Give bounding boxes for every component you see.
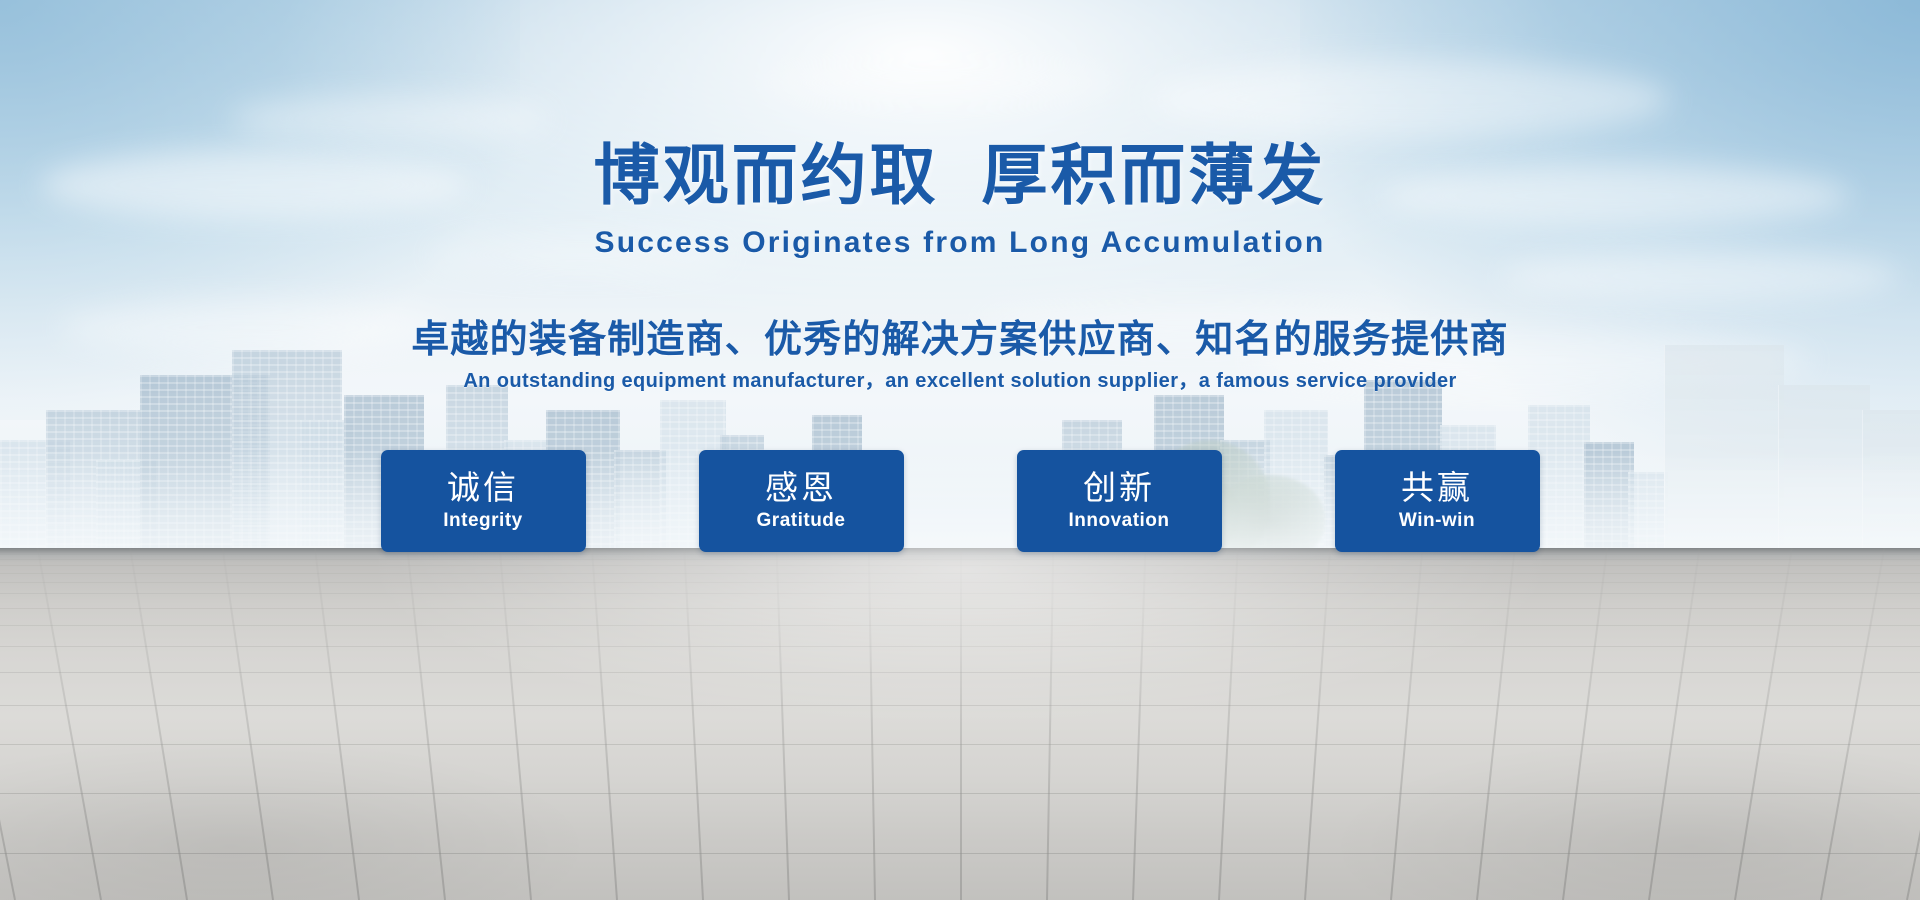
core-values-list: 诚信 Integrity 感恩 Gratitude 创新 Innovation … [0, 450, 1920, 552]
value-card-winwin[interactable]: 共赢 Win-win [1335, 450, 1540, 552]
value-card-label-cn: 感恩 [765, 470, 837, 507]
value-card-integrity[interactable]: 诚信 Integrity [381, 450, 586, 552]
banner-content: 博观而约取 厚积而薄发 Success Originates from Long… [0, 0, 1920, 900]
subtitle-english: An outstanding equipment manufacturer，an… [0, 364, 1920, 393]
headline-english: Success Originates from Long Accumulatio… [0, 226, 1920, 260]
value-card-innovation[interactable]: 创新 Innovation [1017, 450, 1222, 552]
value-card-label-en: Gratitude [757, 509, 846, 533]
value-card-label-cn: 创新 [1083, 470, 1155, 507]
subtitle-chinese: 卓越的装备制造商、优秀的解决方案供应商、知名的服务提供商 [0, 308, 1920, 363]
value-card-label-cn: 共赢 [1401, 470, 1473, 507]
value-card-label-en: Innovation [1068, 509, 1169, 533]
value-card-label-en: Win-win [1399, 509, 1475, 533]
value-card-label-cn: 诚信 [447, 470, 519, 507]
hero-banner: 博观而约取 厚积而薄发 Success Originates from Long… [0, 0, 1920, 900]
value-card-label-en: Integrity [443, 509, 522, 533]
value-card-gratitude[interactable]: 感恩 Gratitude [699, 450, 904, 552]
headline-chinese: 博观而约取 厚积而薄发 [0, 122, 1920, 218]
